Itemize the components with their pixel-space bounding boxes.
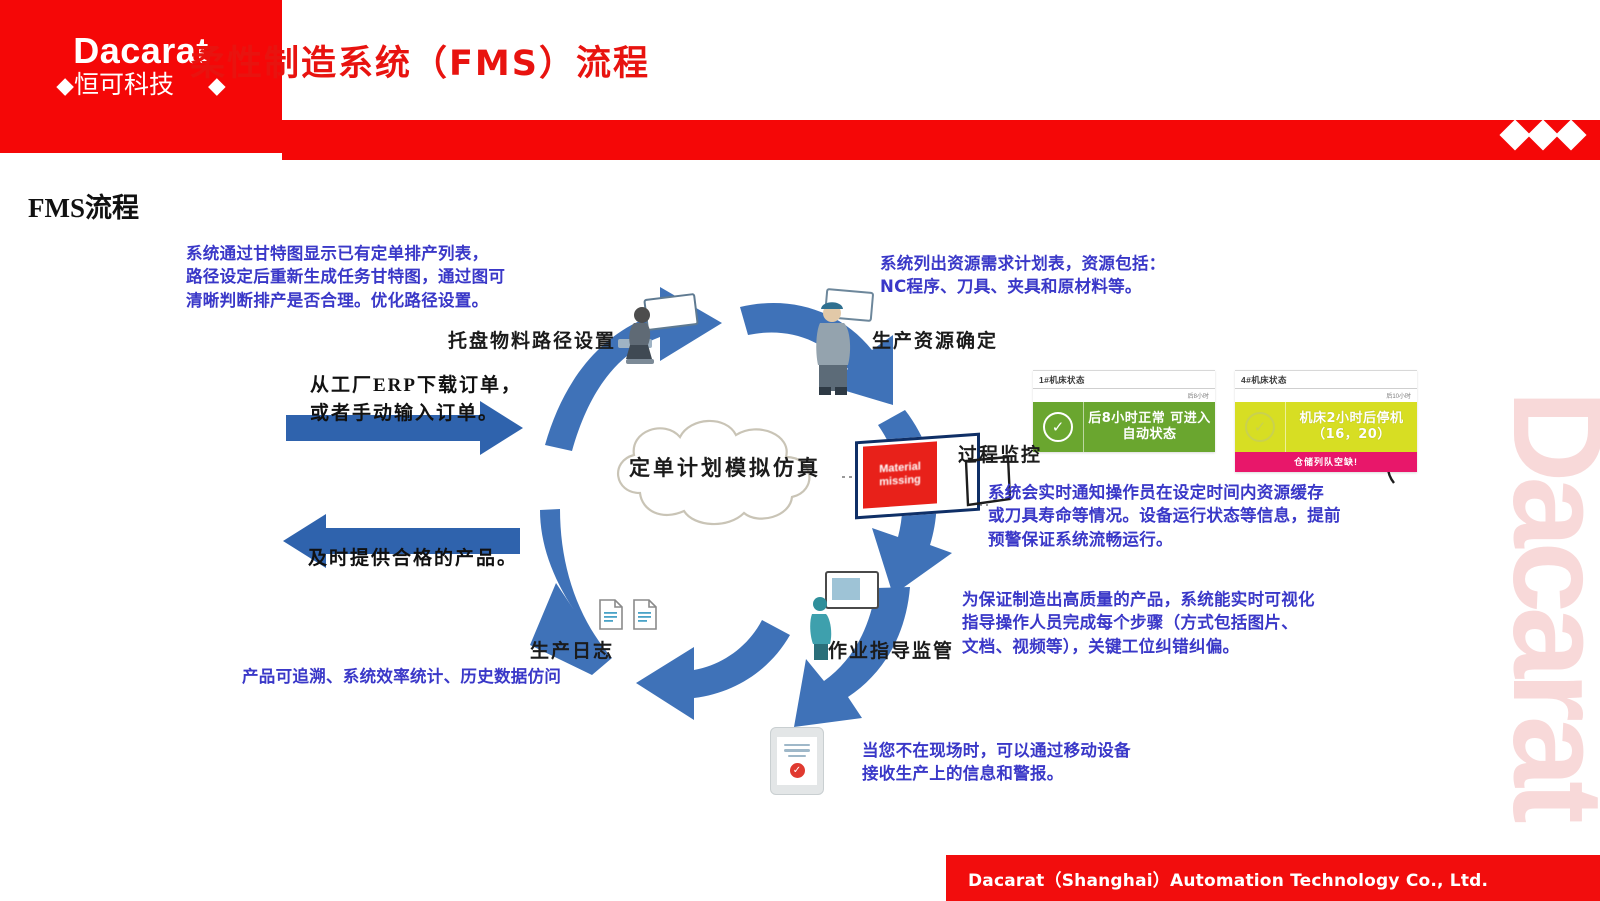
check-circle-icon-2: ✓ xyxy=(1245,412,1275,442)
note-mobile: 当您不在现场时，可以通过移动设备 接收生产上的信息和警报。 xyxy=(862,739,1131,786)
header-diamond-1-icon xyxy=(1499,119,1530,150)
node-label-work-instruction: 作业指导监管 xyxy=(828,639,954,666)
tablet-text-line-3 xyxy=(788,755,806,758)
machine-status-card-1[interactable]: 1#机床状态 后8小时 ✓ 后8小时正常 可进入自动状态 xyxy=(1033,370,1215,452)
fms-flow-diagram: 定单计划模拟仿真 Material missing xyxy=(0,215,1600,855)
storage-queue-alert-badge: 仓储列队空缺! xyxy=(1235,452,1417,472)
label-erp-download: 从工厂ERP下载订单， 或者手动输入订单。 xyxy=(310,372,522,427)
material-missing-line2: missing xyxy=(879,474,921,490)
machine-status-icon-wrap-2: ✓ xyxy=(1235,402,1286,452)
standing-worker-illustration xyxy=(806,287,876,397)
page-title-text: 柔性制造系统（FMS）流程 xyxy=(190,35,650,86)
node-label-process-monitor: 过程监控 xyxy=(958,443,1042,470)
document-icon-2 xyxy=(632,598,658,631)
document-icon-1 xyxy=(598,598,624,631)
node-label-production-log: 生产日志 xyxy=(530,639,614,666)
machine-status-title-2: 4#机床状态 xyxy=(1235,371,1417,389)
machine-status-body-2: ✓ 机床2小时后停机 （16，20） xyxy=(1235,402,1417,452)
seated-operator-illustration xyxy=(612,293,702,373)
machine-status-time-1: 后8小时 xyxy=(1033,389,1215,402)
tablet-text-line-2 xyxy=(784,749,810,752)
header-diamond-2-icon xyxy=(1527,119,1558,150)
header-red-bar xyxy=(282,120,1600,160)
header-red-bar-left xyxy=(0,131,282,153)
note-log: 产品可追溯、系统效率统计、历史数据仿问 xyxy=(242,665,561,688)
tablet-device-icon: ✓ xyxy=(770,727,824,795)
header-diamond-decoration xyxy=(1504,124,1582,146)
note-gantt: 系统通过甘特图显示已有定单排产列表， 路径设定后重新生成任务甘特图，通过图可 清… xyxy=(186,242,505,312)
tablet-text-line-1 xyxy=(784,744,810,747)
tablet-screen: ✓ xyxy=(777,737,817,785)
machine-status-title-1: 1#机床状态 xyxy=(1033,371,1215,389)
material-missing-banner: Material missing xyxy=(863,441,937,508)
node-label-pallet-route: 托盘物料路径设置 xyxy=(448,329,616,356)
note-instruction: 为保证制造出高质量的产品，系统能实时可视化 指导操作人员完成每个步骤（方式包括图… xyxy=(962,588,1315,658)
machine-status-card-2[interactable]: 4#机床状态 后10小时 ✓ 机床2小时后停机 （16，20） 仓储列队空缺! xyxy=(1235,370,1417,472)
page-header: Dacarat ◆恒可科技 ◆ 柔性制造系统（FMS）流程 xyxy=(0,0,1600,160)
machine-status-message-2: 机床2小时后停机 （16，20） xyxy=(1286,411,1417,444)
footer-company-name: Dacarat（Shanghai）Automation Technology C… xyxy=(968,866,1488,891)
tablet-check-icon: ✓ xyxy=(790,763,805,778)
cloud-label: 定单计划模拟仿真 xyxy=(600,452,850,482)
label-deliver-product: 及时提供合格的产品。 xyxy=(308,545,518,573)
machine-status-time-2: 后10小时 xyxy=(1235,389,1417,402)
page-title: 柔性制造系统（FMS）流程 xyxy=(0,0,1318,120)
note-monitor: 系统会实时通知操作员在设定时间内资源缓存 或刀具寿命等情况。设备运行状态等信息，… xyxy=(988,481,1341,551)
machine-status-message-1: 后8小时正常 可进入自动状态 xyxy=(1084,411,1215,444)
node-label-resource-confirm: 生产资源确定 xyxy=(872,329,998,356)
page-footer: Dacarat（Shanghai）Automation Technology C… xyxy=(946,855,1600,901)
header-diamond-3-icon xyxy=(1555,119,1586,150)
check-circle-icon-1: ✓ xyxy=(1043,412,1073,442)
machine-status-body-1: ✓ 后8小时正常 可进入自动状态 xyxy=(1033,402,1215,452)
note-resource: 系统列出资源需求计划表，资源包括： NC程序、刀具、夹具和原材料等。 xyxy=(880,252,1166,299)
arrow-instruction-to-log xyxy=(636,620,790,720)
